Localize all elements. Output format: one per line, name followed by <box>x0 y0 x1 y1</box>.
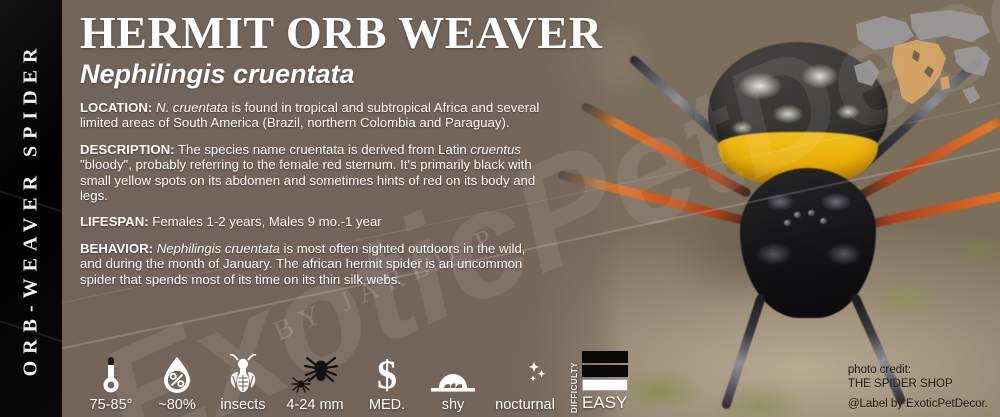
difficulty-bar-medium <box>582 365 628 377</box>
info-content: HERMIT ORB WEAVER Nephilingis cruentata … <box>80 8 610 287</box>
label-credit: @Label by ExoticPetDecor. <box>848 397 988 411</box>
section-heading-behavior: BEHAVIOR: <box>80 241 153 256</box>
care-label-temperature: 75-85° <box>90 397 133 413</box>
spine-label: ORB-WEAVER SPIDER <box>20 41 43 376</box>
section-lifespan: LIFESPAN: Females 1-2 years, Males 9 mo.… <box>80 214 550 229</box>
section-heading-location: LOCATION: <box>80 100 152 115</box>
care-item-price: $ MED. <box>354 354 420 413</box>
care-icon-row: 75-85° ~80% <box>78 351 628 413</box>
humidity-drop-icon <box>162 354 192 394</box>
difficulty-widget: DIFFICULTY EASY <box>570 351 628 413</box>
photo-credit-line2: THE SPIDER SHOP <box>848 377 988 391</box>
spider-eye <box>784 220 791 226</box>
spider-eye <box>820 218 827 224</box>
world-map-africa-highlighted-icon <box>854 6 994 110</box>
spider-size-icon <box>289 354 341 394</box>
care-label-price: MED. <box>369 397 405 413</box>
difficulty-vertical-label: DIFFICULTY <box>570 369 580 413</box>
moon-stars-icon <box>503 354 547 394</box>
difficulty-stack: EASY <box>582 351 628 413</box>
care-item-activity: nocturnal <box>486 354 564 413</box>
thermometer-icon <box>101 354 121 394</box>
care-item-size: 4-24 mm <box>276 354 354 413</box>
section-location: LOCATION: N. cruentata is found in tropi… <box>80 100 550 131</box>
section-description: DESCRIPTION: The species name cruentata … <box>80 142 550 204</box>
section-behavior: BEHAVIOR: Nephilingis cruentata is most … <box>80 241 550 287</box>
care-label-temperament: shy <box>442 397 465 413</box>
credits-block: photo credit: THE SPIDER SHOP @Label by … <box>848 363 988 411</box>
spider-eye <box>794 212 801 218</box>
section-heading-lifespan: LIFESPAN: <box>80 214 149 229</box>
species-label-card: ExoticPetDecor BY JARED P ORB-WEAVER SPI… <box>0 0 1000 417</box>
care-item-humidity: ~80% <box>144 354 210 413</box>
svg-text:$: $ <box>377 354 397 394</box>
insect-fly-icon <box>226 354 260 394</box>
difficulty-bars <box>582 351 628 391</box>
care-label-humidity: ~80% <box>158 397 196 413</box>
section-body-lifespan: Females 1-2 years, Males 9 mo.-1 year <box>149 214 382 229</box>
dollar-sign-icon: $ <box>374 354 400 394</box>
section-heading-description: DESCRIPTION: <box>80 142 175 157</box>
left-spine: ORB-WEAVER SPIDER <box>0 0 62 417</box>
care-item-temperament: shy <box>420 354 486 413</box>
care-label-size: 4-24 mm <box>286 397 343 413</box>
page-title: HERMIT ORB WEAVER <box>80 8 610 58</box>
photo-credit-line1: photo credit: <box>848 363 988 377</box>
care-label-diet: insects <box>220 397 265 413</box>
difficulty-bar-hard <box>582 351 628 363</box>
difficulty-level-label: EASY <box>582 393 627 413</box>
care-item-diet: insects <box>210 354 276 413</box>
spider-eye <box>808 210 815 216</box>
care-item-temperature: 75-85° <box>78 354 144 413</box>
spider-leg <box>721 293 767 410</box>
care-label-activity: nocturnal <box>495 397 555 413</box>
scientific-name: Nephilingis cruentata <box>80 59 610 89</box>
shy-burrow-icon <box>429 354 477 394</box>
difficulty-bar-easy <box>582 379 628 391</box>
